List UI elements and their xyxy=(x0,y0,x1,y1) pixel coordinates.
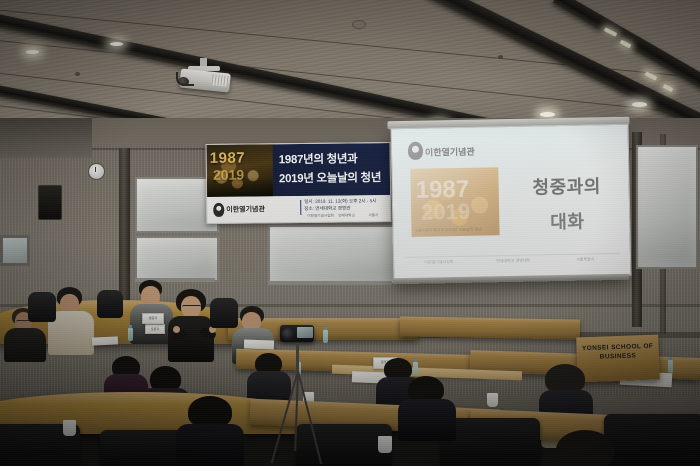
tripod-leg xyxy=(297,371,322,465)
yonsei-school-of-business-sign: YONSEI SCHOOL OF BUSINESS xyxy=(576,335,660,383)
audience-chair xyxy=(100,430,186,466)
hair xyxy=(556,430,614,466)
ceiling-downlight xyxy=(110,42,123,46)
ceiling-downlight xyxy=(632,102,647,107)
podium-line-2: SCHOOL OF xyxy=(611,343,653,351)
glasses xyxy=(182,305,201,309)
head xyxy=(141,286,160,306)
banner-sponsor: 서울시 xyxy=(368,213,378,218)
banner-sponsor: 연세대학교 xyxy=(338,213,355,218)
ceiling-downlight xyxy=(540,112,555,117)
banner-date-info: 일시: 2019. 11. 12(화) 오후 2시 - 5시 xyxy=(304,198,376,205)
whiteboard-center xyxy=(268,225,396,285)
torso xyxy=(4,328,46,362)
lecture-hall-photo: 1987 2019 1987년의 청년과 2019년 오늘날의 청년 이한열기념… xyxy=(0,0,700,466)
banner-logo-text: 이한열기념관 xyxy=(226,204,265,214)
side-window xyxy=(0,235,30,266)
banner-title-line-1: 1987년의 청년과 xyxy=(279,150,358,167)
projector-vent xyxy=(211,74,228,87)
banner-photo-shade xyxy=(207,176,273,197)
whiteboard-left-lower xyxy=(135,236,219,282)
water-bottle xyxy=(128,328,133,341)
wall-pilaster xyxy=(119,148,130,308)
camera-tripod xyxy=(268,325,328,466)
tripod-column xyxy=(296,343,299,373)
banner-footer: 이한열기념관 일시: 2019. 11. 12(화) 오후 2시 - 5시 장소… xyxy=(207,195,390,223)
paper-cup xyxy=(487,393,498,407)
name-card: 발표자 xyxy=(142,313,164,324)
name-card-text: 토론자 xyxy=(146,327,164,331)
panel-chair xyxy=(97,290,123,318)
ceiling-projector xyxy=(176,58,234,98)
banner-sponsor: 이한열기념사업회 xyxy=(307,214,334,219)
projection-screen: 이한열기념관 1987 2019 1987년의 청년과 2019년 오늘날의 청… xyxy=(391,124,630,285)
name-card: 토론자 xyxy=(145,324,165,334)
whiteboard-tray xyxy=(268,281,392,285)
banner-logo-mark-icon xyxy=(213,203,224,217)
torso xyxy=(398,399,456,441)
banner-title-line-2: 2019년 오늘날의 청년 xyxy=(279,169,381,186)
water-bottle xyxy=(413,362,418,375)
ceiling-smoke-detector xyxy=(352,20,366,29)
paper-cup xyxy=(378,436,392,453)
whiteboard-right xyxy=(636,145,698,269)
banner-year-1987: 1987 xyxy=(210,149,272,167)
desk-row-back xyxy=(400,316,580,339)
banner-organization-logo: 이한열기념관 xyxy=(213,200,271,219)
paper-cup xyxy=(63,420,76,436)
wall-speaker-icon xyxy=(38,185,62,220)
podium-sign-text: YONSEI SCHOOL OF BUSINESS xyxy=(576,342,659,363)
ceiling-downlight xyxy=(26,50,39,54)
video-camera xyxy=(280,325,314,342)
panel-chair xyxy=(28,292,56,322)
podium-line-3: BUSINESS xyxy=(600,352,637,360)
banner-main-panel: 1987 2019 1987년의 청년과 2019년 오늘날의 청년 xyxy=(207,143,391,197)
water-bottle xyxy=(668,360,673,373)
camera-lcd-screen xyxy=(297,327,313,338)
camera-lens-icon xyxy=(282,328,294,340)
ceiling-sprinkler xyxy=(75,72,80,76)
paper-sheet xyxy=(92,336,118,345)
projector-cable xyxy=(176,72,194,86)
banner-crowd-photo: 1987 2019 xyxy=(207,144,274,197)
slide-sponsor: 서울특별시 xyxy=(576,256,595,262)
screen-surface: 이한열기념관 1987 2019 1987년의 청년과 2019년 오늘날의 청… xyxy=(391,124,632,281)
wall-soffit xyxy=(0,118,92,158)
podium-line-1: YONSEI xyxy=(582,344,609,352)
event-banner: 1987 2019 1987년의 청년과 2019년 오늘날의 청년 이한열기념… xyxy=(206,142,392,224)
banner-divider xyxy=(300,200,301,215)
hand-left xyxy=(173,326,180,333)
name-card-text: 발표자 xyxy=(143,316,163,320)
ceiling-sprinkler xyxy=(498,55,503,59)
panel-chair xyxy=(210,298,238,328)
banner-venue-info: 장소: 연세대학교 경영관 xyxy=(304,205,350,211)
audience-chair xyxy=(604,414,700,466)
wall-clock-icon xyxy=(88,163,105,180)
torso xyxy=(176,424,244,466)
